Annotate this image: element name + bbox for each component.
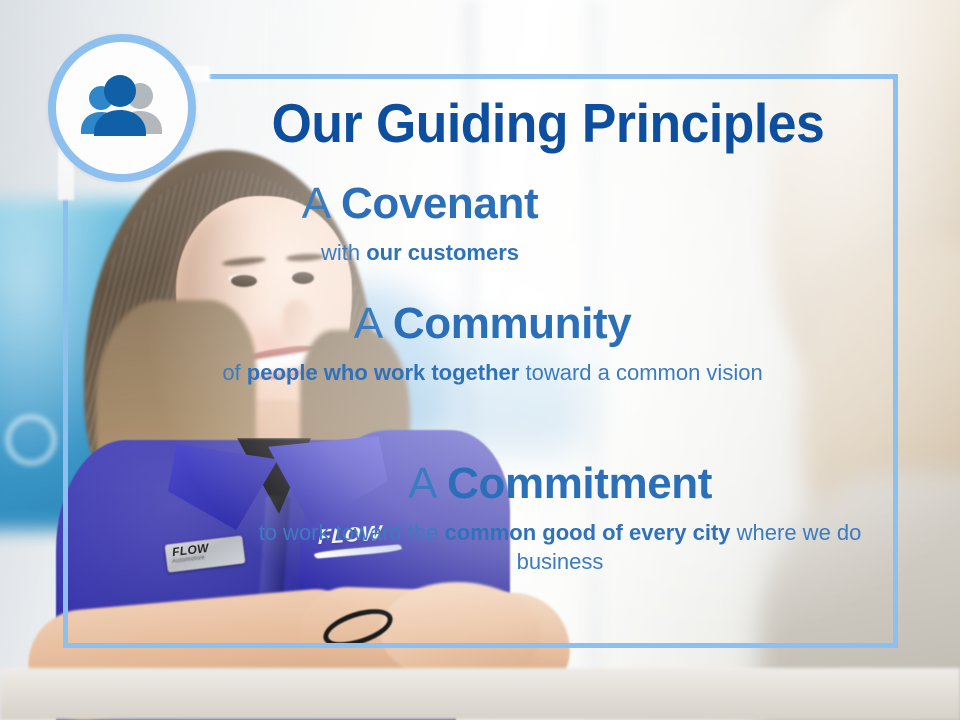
principle-community-body-part: of [222, 360, 246, 385]
principle-covenant-keyword: Covenant [341, 179, 538, 228]
blurred-vw-roundel-logo [6, 415, 56, 465]
principle-community: A Community of people who work together … [210, 300, 775, 387]
woman-clasped-hands [380, 582, 540, 682]
poster-canvas: FLOW FLOW Automotive [0, 0, 960, 720]
woman-eye-left [231, 275, 257, 287]
principle-covenant-body: with our customers [175, 238, 665, 267]
group-of-people-icon [74, 72, 170, 144]
guiding-principles-badge [48, 34, 196, 182]
white-counter-surface [0, 668, 960, 720]
principle-covenant: A Covenant with our customers [175, 180, 665, 267]
principle-community-lead: A [354, 299, 393, 348]
principle-covenant-title: A Covenant [175, 180, 665, 228]
principle-commitment-title: A Commitment [240, 460, 880, 508]
principle-commitment-body-emphasis: common good of every city [444, 520, 730, 545]
principle-community-body-part-2: toward a common vision [519, 360, 762, 385]
principle-community-body: of people who work together toward a com… [210, 358, 775, 387]
principle-community-title: A Community [210, 300, 775, 348]
principle-commitment-body-part: to work toward the [259, 520, 445, 545]
woman-eye-right [292, 272, 314, 284]
principle-covenant-lead: A [302, 179, 341, 228]
principle-commitment-keyword: Commitment [447, 459, 712, 508]
principle-commitment-lead: A [408, 459, 447, 508]
principle-covenant-body-emphasis: our customers [366, 240, 519, 265]
principle-community-keyword: Community [393, 299, 631, 348]
principle-covenant-body-part: with [321, 240, 366, 265]
page-title: Our Guiding Principles [238, 96, 858, 151]
principle-commitment: A Commitment to work toward the common g… [240, 460, 880, 576]
principle-community-body-emphasis: people who work together [247, 360, 520, 385]
principle-commitment-body: to work toward the common good of every … [240, 518, 880, 576]
